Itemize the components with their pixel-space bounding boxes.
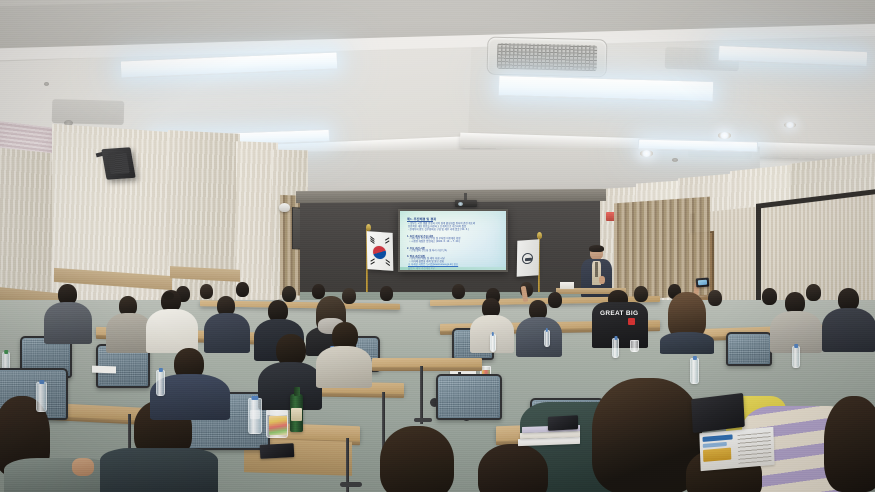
brochure-bar-2 [703, 442, 727, 448]
hvac-vent [487, 37, 608, 78]
water-bottle-right-1[interactable] [690, 358, 699, 384]
slide-line-2: - 관계부처 합동 실무협의회 구성 및 세부 과제 발굴 ('24. 3.) [408, 229, 469, 231]
raised-phone-screen [698, 280, 707, 286]
attendee-mid-7-top [516, 317, 562, 357]
korean-national-flag [367, 231, 394, 271]
sprinkler-head-3 [672, 158, 678, 162]
attendee-grey-suit [44, 284, 92, 344]
attendee-mid-8 [770, 292, 822, 350]
desk-front-center-far [372, 358, 482, 368]
desk-leg-3 [420, 366, 423, 424]
brochure-bar-1 [702, 434, 732, 442]
snack-cup-contents-front [269, 416, 287, 435]
attendee-foreground-left-2-top [100, 448, 218, 492]
attendee-white-top [146, 290, 198, 352]
sprinkler-head-2 [44, 82, 49, 86]
attendee-long-hair-right-top [660, 332, 714, 354]
presenter-hand [599, 276, 605, 284]
water-bottle-mid-2[interactable] [490, 334, 496, 352]
presenter-hair [589, 245, 604, 252]
downlight-3 [784, 122, 796, 128]
attendee-head-b7 [380, 286, 393, 301]
attendee-mid-7 [516, 300, 562, 356]
wall-speaker [101, 147, 135, 180]
brochure-text-lines [738, 432, 772, 464]
speaker-grille [107, 152, 130, 174]
attendee-mid-4 [204, 296, 250, 352]
projection-screen: 제1. 추진배경 및 경과 ○ 정부는 국민 생활 안정과 지역 경제 활성화를… [398, 209, 508, 272]
hoodie-logo-badge [628, 318, 635, 325]
slide-line-9: ○ 신청 절차 간소화 및 처리 기한 단축 [409, 250, 447, 252]
desk-foot-2 [414, 418, 432, 422]
dome-camera [279, 203, 290, 212]
presenter-tie [595, 262, 598, 277]
attendee-white-top-blouse [146, 309, 198, 353]
water-bottle-label [250, 410, 260, 419]
attendee-foreground-left-sleeve [4, 458, 114, 492]
projection-screen-surface: 제1. 추진배경 및 경과 ○ 정부는 국민 생활 안정과 지역 경제 활성화를… [400, 211, 506, 270]
attendee-foreground-bottom-1-head [380, 426, 454, 492]
attendee-foreground-far-right [824, 396, 875, 492]
slide-footer-bar [400, 267, 506, 270]
hoodie-graphic-text: GREAT BIG [600, 310, 638, 318]
attendee-mid-9 [822, 288, 875, 350]
institutional-emblem [522, 253, 533, 265]
slide-line-6: ○ 시행령 개정안 입법예고 (2024. 6. 10. ~ 7. 20.) [409, 241, 460, 243]
attendee-foreground-center-2-top [316, 346, 372, 388]
taeguk-symbol [373, 246, 386, 260]
snack-cup-lid [266, 411, 288, 415]
water-bottle-right-2[interactable] [612, 338, 619, 358]
attendee-foreground-left-hand [72, 458, 94, 476]
attendee-great-big-hoodie-body [592, 302, 648, 348]
water-bottle[interactable] [248, 398, 262, 434]
attendee-mid-4-top [204, 313, 250, 353]
water-bottle-cap [251, 396, 258, 400]
front-wall-header [296, 189, 606, 203]
attendee-white-top-bun [163, 292, 174, 300]
water-bottle-mid-4[interactable] [792, 346, 800, 368]
brochure-chart [703, 448, 731, 462]
attendee-foreground-left [0, 396, 114, 492]
chair-front-right-upper[interactable] [436, 374, 502, 420]
hvac-vent-grille [497, 43, 598, 71]
water-bottle-left-front[interactable] [36, 382, 47, 412]
attendee-foreground-center-2 [316, 322, 372, 384]
attendee-foreground-bottom-2 [456, 444, 576, 492]
open-brochure[interactable] [699, 427, 774, 471]
downlight-1 [640, 150, 653, 157]
green-bottle-label [291, 408, 302, 421]
projector-lens [458, 202, 463, 206]
attendee-head-b8 [452, 284, 465, 299]
slide-title-underline [407, 221, 433, 222]
hvac-vent-slot-left [52, 99, 125, 125]
attendee-great-big-hoodie: GREAT BIG [592, 296, 648, 352]
water-bottle-left-front-2[interactable] [156, 370, 165, 396]
front-table-paper [560, 282, 574, 289]
attendee-foreground-bottom-2-head [478, 444, 548, 492]
cup-right-1[interactable] [630, 340, 639, 352]
ceiling-projector [455, 200, 477, 207]
attendee-grey-suit-jacket [44, 302, 92, 344]
laptop-screen[interactable] [691, 393, 745, 433]
green-bottle[interactable] [290, 394, 303, 432]
institutional-flag [517, 239, 540, 277]
attendee-head-b3 [236, 282, 249, 297]
downlight-2 [718, 132, 731, 139]
smartphone[interactable] [260, 443, 295, 459]
attendee-foreground-far-right-hair [824, 396, 875, 492]
snack-cup[interactable] [266, 410, 288, 438]
lecture-hall-photo: 제1. 추진배경 및 경과 ○ 정부는 국민 생활 안정과 지역 경제 활성화를… [0, 0, 875, 492]
attendee-mid-9-top [822, 308, 875, 352]
water-bottle-mid-3[interactable] [544, 330, 550, 347]
smartphone-on-books[interactable] [548, 415, 578, 431]
attendee-long-hair-right [660, 292, 714, 352]
chair-mid-5[interactable] [726, 332, 772, 366]
green-bottle-neck [294, 387, 300, 396]
paper-mid-2 [92, 366, 116, 374]
